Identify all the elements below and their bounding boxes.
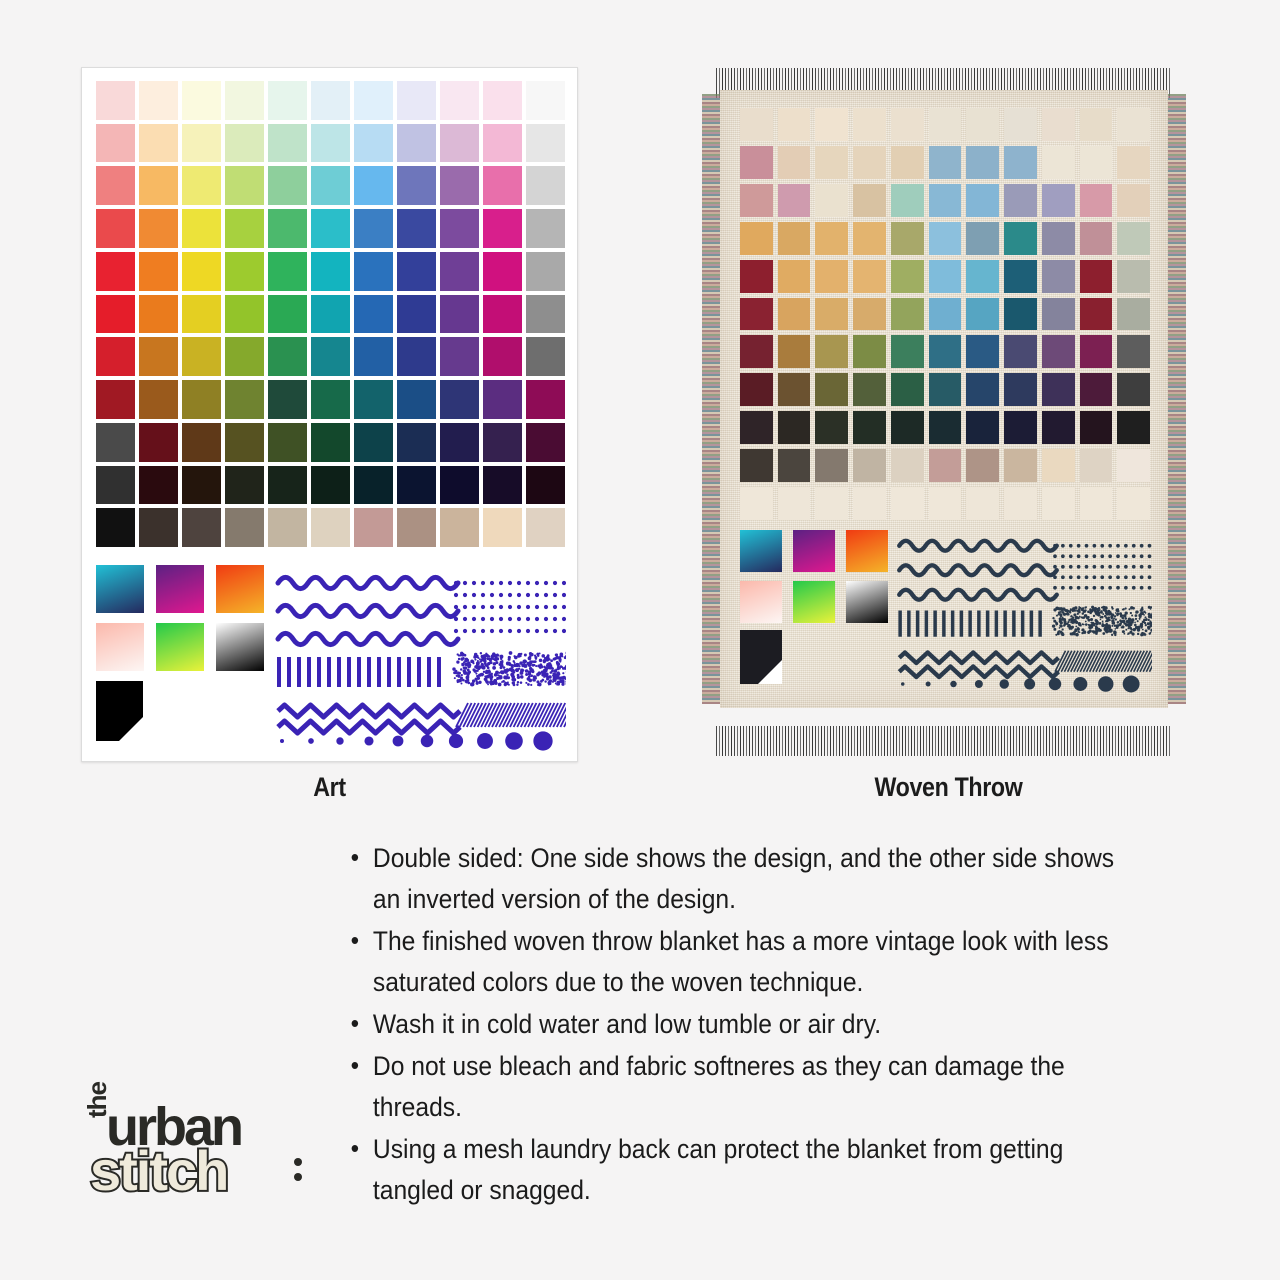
noise-dot — [525, 673, 528, 676]
color-swatch — [526, 466, 565, 505]
care-instructions: Double sided: One side shows the design,… — [345, 838, 1140, 1212]
grid-dot — [1085, 565, 1089, 569]
noise-dot — [1069, 611, 1071, 613]
color-swatch — [139, 380, 178, 419]
color-swatch — [483, 166, 522, 205]
noise-dot — [1075, 621, 1078, 624]
color-swatch — [1004, 108, 1037, 141]
color-swatch — [1117, 222, 1150, 255]
growing-dot — [1024, 679, 1035, 690]
noise-dot — [514, 656, 518, 660]
noise-dot — [488, 669, 490, 671]
noise-dot — [552, 679, 555, 682]
color-swatch — [526, 252, 565, 291]
color-swatch — [397, 252, 436, 291]
grid-dot — [1077, 544, 1081, 548]
noise-dot — [1100, 616, 1102, 618]
color-swatch — [311, 209, 350, 248]
noise-dot — [540, 665, 543, 668]
color-swatch — [929, 487, 962, 520]
art-panel-label: Art — [116, 772, 543, 803]
noise-dot — [555, 682, 557, 684]
noise-dot — [1125, 629, 1127, 631]
noise-dot — [1053, 628, 1056, 631]
noise-dot — [530, 684, 532, 686]
noise-dot — [1111, 606, 1113, 608]
noise-dot — [1081, 632, 1083, 634]
noise-dot — [498, 683, 502, 687]
noise-dot — [1116, 626, 1118, 628]
color-swatch — [740, 260, 773, 293]
noise-dot — [1145, 619, 1147, 621]
noise-dot — [1111, 619, 1114, 622]
color-swatch — [397, 423, 436, 462]
grid-dot — [544, 581, 548, 585]
color-swatch — [891, 260, 924, 293]
noise-dot — [1088, 629, 1091, 632]
color-swatch — [182, 423, 221, 462]
noise-dot — [454, 677, 456, 679]
noise-dot — [1108, 624, 1111, 627]
noise-dot — [508, 662, 511, 665]
noise-dot — [508, 656, 511, 659]
noise-dot — [1105, 611, 1107, 613]
color-swatch — [966, 411, 999, 444]
grid-dot — [1148, 554, 1152, 558]
color-swatch — [853, 335, 886, 368]
color-swatch — [853, 146, 886, 179]
grid-dot — [1077, 565, 1081, 569]
noise-dot — [460, 682, 462, 684]
color-swatch — [268, 252, 307, 291]
noise-dot — [1135, 618, 1137, 620]
noise-dot — [460, 668, 462, 670]
color-swatch — [853, 373, 886, 406]
color-swatch — [778, 449, 811, 482]
color-swatch — [440, 124, 479, 163]
noise-dot — [1130, 612, 1132, 614]
color-swatch — [397, 508, 436, 547]
grid-dot — [1108, 565, 1112, 569]
color-swatch — [526, 423, 565, 462]
grid-dot — [499, 593, 503, 597]
color-swatch — [225, 423, 264, 462]
color-swatch — [815, 411, 848, 444]
noise-dot — [1130, 619, 1132, 621]
growing-dot — [336, 737, 343, 744]
noise-dot — [485, 680, 488, 683]
color-swatch — [311, 81, 350, 120]
grid-dot — [1132, 544, 1136, 548]
noise-dot — [467, 681, 470, 684]
noise-dot — [557, 671, 560, 674]
noise-dot — [1148, 616, 1150, 618]
noise-dot — [1140, 625, 1143, 628]
color-swatch — [483, 124, 522, 163]
noise-dot — [1057, 631, 1059, 633]
color-swatch — [1042, 260, 1075, 293]
color-swatch — [354, 209, 393, 248]
color-swatch — [1042, 184, 1075, 217]
color-swatch — [354, 81, 393, 120]
noise-dot — [475, 673, 477, 675]
noise-dot — [465, 676, 469, 680]
growing-dot — [421, 735, 434, 748]
color-swatch — [225, 466, 264, 505]
color-swatch — [1042, 411, 1075, 444]
color-swatch — [740, 146, 773, 179]
color-swatch — [397, 380, 436, 419]
zigzag-line — [899, 667, 1058, 678]
noise-dot — [1147, 627, 1150, 630]
noise-dot — [544, 680, 546, 682]
noise-dot — [495, 659, 497, 661]
noise-dot — [486, 675, 488, 677]
color-swatch — [182, 466, 221, 505]
noise-dot — [1093, 631, 1096, 634]
color-swatch — [1080, 184, 1113, 217]
color-swatch — [1080, 222, 1113, 255]
noise-dot — [1078, 623, 1081, 626]
noise-dot — [1122, 620, 1125, 623]
grid-dot — [1100, 586, 1104, 590]
noise-dot — [1141, 632, 1144, 635]
color-swatch — [397, 166, 436, 205]
noise-dot — [461, 653, 464, 656]
noise-dot — [559, 667, 561, 669]
grid-dot — [1140, 586, 1144, 590]
color-swatch — [891, 146, 924, 179]
noise-dot — [1114, 628, 1116, 630]
noise-dot — [1085, 623, 1088, 626]
noise-dot — [523, 664, 527, 668]
grid-dot — [1132, 554, 1136, 558]
noise-dot — [1103, 608, 1106, 611]
noise-dot — [480, 673, 483, 676]
noise-dot — [1098, 615, 1100, 617]
color-swatch — [440, 423, 479, 462]
noise-dot — [476, 664, 478, 666]
noise-dot — [1117, 614, 1119, 616]
color-swatch — [1080, 108, 1113, 141]
noise-dot — [1122, 609, 1124, 611]
color-swatch — [853, 108, 886, 141]
grid-dot — [472, 593, 476, 597]
color-swatch — [740, 184, 773, 217]
color-swatch — [483, 380, 522, 419]
color-swatch — [778, 260, 811, 293]
noise-dot — [1147, 619, 1149, 621]
color-swatch — [268, 380, 307, 419]
noise-dot — [528, 670, 532, 674]
growing-dot — [364, 736, 373, 745]
color-swatch — [354, 252, 393, 291]
grid-dot — [562, 605, 566, 609]
noise-dot — [562, 672, 564, 674]
noise-dot — [1082, 607, 1084, 609]
grid-dot — [1116, 586, 1120, 590]
noise-dot — [1107, 610, 1110, 613]
noise-dot — [485, 653, 487, 655]
noise-dot — [1148, 606, 1151, 609]
color-swatch — [440, 380, 479, 419]
color-swatch — [853, 449, 886, 482]
noise-dot — [1061, 608, 1064, 611]
noise-dot — [501, 681, 503, 683]
grid-dot — [508, 593, 512, 597]
grid-dot — [1148, 565, 1152, 569]
noise-dot — [1106, 628, 1109, 631]
color-swatch — [96, 466, 135, 505]
grid-dot — [1061, 586, 1065, 590]
noise-dot — [508, 684, 510, 686]
sine-wave-line — [899, 565, 1057, 575]
color-swatch — [966, 373, 999, 406]
noise-dot — [1136, 610, 1139, 613]
grid-dot — [1061, 554, 1065, 558]
noise-dot — [457, 675, 460, 678]
noise-dot — [1075, 633, 1078, 636]
color-swatch — [354, 124, 393, 163]
grid-dot — [463, 605, 467, 609]
color-swatch — [483, 423, 522, 462]
noise-dot — [540, 680, 543, 683]
color-swatch — [929, 146, 962, 179]
throw-fringe-bottom — [716, 726, 1172, 756]
noise-dot — [528, 663, 532, 667]
color-swatch — [139, 508, 178, 547]
noise-dot — [1103, 606, 1105, 608]
color-swatch — [1080, 260, 1113, 293]
grid-dot — [1085, 554, 1089, 558]
noise-dot — [1102, 620, 1104, 622]
noise-dot — [478, 681, 481, 684]
grid-dot — [544, 593, 548, 597]
color-swatch — [815, 487, 848, 520]
color-swatch — [966, 449, 999, 482]
color-swatch — [397, 337, 436, 376]
noise-dot — [556, 662, 560, 666]
color-swatch — [929, 108, 962, 141]
grid-dot — [463, 617, 467, 621]
noise-dot — [546, 677, 549, 680]
noise-dot — [1083, 617, 1085, 619]
noise-dot — [1145, 629, 1148, 632]
grid-dot — [562, 629, 566, 633]
color-swatch — [440, 209, 479, 248]
color-swatch — [225, 209, 264, 248]
color-swatch — [891, 222, 924, 255]
noise-dot — [496, 654, 498, 656]
noise-dot — [493, 662, 497, 666]
color-swatch — [225, 124, 264, 163]
color-swatch — [966, 108, 999, 141]
color-swatch — [853, 411, 886, 444]
grid-dot — [1053, 544, 1057, 548]
color-swatch — [96, 252, 135, 291]
grid-dot — [1108, 575, 1112, 579]
color-swatch — [311, 124, 350, 163]
noise-dot — [553, 669, 556, 672]
color-swatch — [526, 508, 565, 547]
color-swatch — [182, 295, 221, 334]
color-swatch — [740, 222, 773, 255]
logo-colon-dots — [294, 1158, 302, 1188]
color-swatch — [268, 209, 307, 248]
noise-dot — [466, 659, 469, 662]
color-swatch — [440, 252, 479, 291]
grid-dot — [1053, 565, 1057, 569]
color-swatch — [891, 298, 924, 331]
noise-dot — [501, 660, 503, 662]
color-swatch — [182, 209, 221, 248]
color-swatch — [1004, 373, 1037, 406]
noise-dot — [1115, 609, 1118, 612]
noise-dot — [1142, 629, 1144, 631]
color-swatch — [891, 184, 924, 217]
grid-dot — [508, 605, 512, 609]
color-swatch — [929, 373, 962, 406]
noise-dot — [478, 665, 482, 669]
color-swatch — [96, 166, 135, 205]
noise-dot — [504, 681, 506, 683]
noise-dot — [463, 666, 466, 669]
color-swatch — [778, 373, 811, 406]
color-swatch — [96, 423, 135, 462]
noise-dot — [1095, 628, 1097, 630]
grid-dot — [535, 605, 539, 609]
color-swatch — [891, 108, 924, 141]
noise-dot — [1109, 612, 1112, 615]
noise-dot — [1131, 632, 1134, 635]
noise-dot — [1132, 607, 1134, 609]
throw-panel-label: Woven Throw — [735, 772, 1162, 803]
noise-dot — [467, 665, 471, 669]
color-swatch — [778, 222, 811, 255]
noise-dot — [1062, 616, 1064, 618]
noise-dot — [1140, 611, 1143, 614]
grid-dot — [1148, 575, 1152, 579]
grid-dot — [526, 617, 530, 621]
noise-dot — [557, 683, 560, 686]
noise-dot — [461, 663, 463, 665]
noise-dot — [1124, 617, 1127, 620]
grid-dot — [472, 605, 476, 609]
noise-dot — [490, 661, 493, 664]
color-swatch — [182, 81, 221, 120]
noise-dot — [518, 664, 520, 666]
noise-dot — [1126, 620, 1129, 623]
grid-dot — [517, 617, 521, 621]
color-swatch — [225, 252, 264, 291]
noise-dot — [509, 651, 513, 655]
noise-dot — [551, 667, 554, 670]
grid-dot — [454, 605, 458, 609]
grid-dot — [1053, 554, 1057, 558]
noise-dot — [1147, 622, 1150, 625]
color-swatch — [1117, 335, 1150, 368]
color-swatch — [1080, 449, 1113, 482]
color-swatch — [526, 337, 565, 376]
noise-dot — [1074, 610, 1076, 612]
color-swatch — [440, 337, 479, 376]
noise-dot — [1077, 627, 1079, 629]
color-swatch — [397, 81, 436, 120]
color-swatch — [182, 124, 221, 163]
noise-dot — [496, 677, 499, 680]
grid-dot — [553, 629, 557, 633]
noise-dot — [1059, 624, 1062, 627]
noise-dot — [514, 662, 516, 664]
noise-dot — [1059, 627, 1061, 629]
color-swatch — [182, 380, 221, 419]
grid-dot — [1100, 575, 1104, 579]
noise-dot — [1143, 619, 1146, 622]
noise-dot — [518, 653, 522, 657]
noise-dot — [485, 676, 487, 678]
grid-dot — [1069, 565, 1073, 569]
color-swatch — [440, 295, 479, 334]
color-swatch — [891, 449, 924, 482]
noise-dot — [1071, 618, 1074, 621]
grid-dot — [517, 629, 521, 633]
grid-dot — [517, 581, 521, 585]
color-swatch — [966, 487, 999, 520]
grid-dot — [1132, 565, 1136, 569]
noise-dot — [559, 679, 563, 683]
noise-dot — [1114, 615, 1116, 617]
noise-dot — [456, 661, 458, 663]
grid-dot — [1069, 586, 1073, 590]
noise-dot — [1118, 623, 1121, 626]
color-swatch — [139, 81, 178, 120]
noise-dot — [1106, 623, 1108, 625]
grid-dot — [472, 617, 476, 621]
grid-dot — [553, 581, 557, 585]
color-swatch — [1080, 298, 1113, 331]
grid-dot — [1124, 586, 1128, 590]
noise-dot — [1131, 629, 1133, 631]
noise-dot — [1131, 614, 1133, 616]
noise-dot — [1133, 628, 1136, 631]
noise-dot — [513, 684, 516, 687]
grid-dot — [526, 581, 530, 585]
noise-dot — [460, 677, 463, 680]
color-swatch — [354, 380, 393, 419]
noise-dot — [516, 684, 518, 686]
noise-dot — [1101, 624, 1104, 627]
growing-dot — [901, 682, 905, 686]
growing-dot — [449, 734, 463, 748]
noise-dot — [1071, 621, 1074, 624]
noise-dot — [1068, 614, 1070, 616]
grid-dot — [553, 593, 557, 597]
color-swatch — [966, 146, 999, 179]
color-swatch — [778, 298, 811, 331]
noise-dot — [1089, 609, 1091, 611]
noise-dot — [522, 660, 526, 664]
noise-dot — [1102, 622, 1104, 624]
color-swatch — [1004, 298, 1037, 331]
grid-dot — [463, 581, 467, 585]
grid-dot — [490, 593, 494, 597]
color-swatch — [268, 508, 307, 547]
grid-dot — [463, 629, 467, 633]
color-swatch — [1117, 146, 1150, 179]
noise-dot — [541, 670, 545, 674]
color-swatch — [268, 466, 307, 505]
care-instructions-list: Double sided: One side shows the design,… — [345, 838, 1140, 1211]
